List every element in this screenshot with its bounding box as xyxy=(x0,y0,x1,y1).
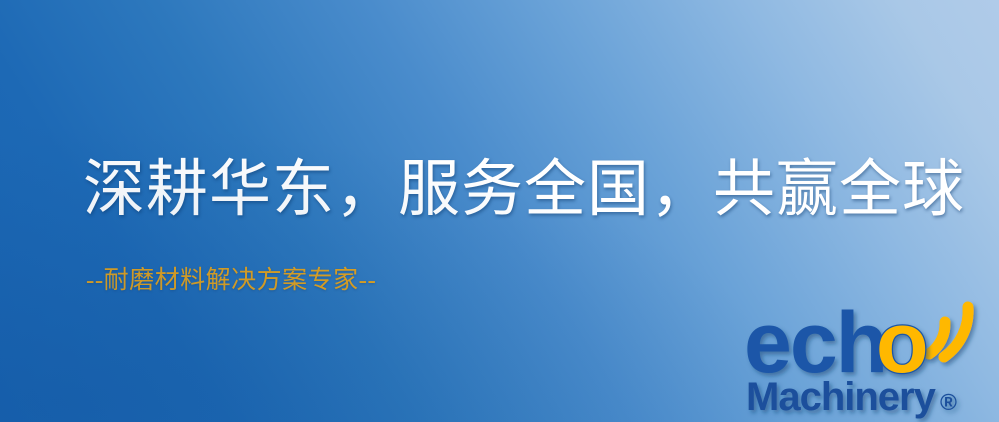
echo-machinery-logo[interactable]: ech o Machinery ® xyxy=(744,296,994,418)
signal-arcs-icon xyxy=(929,307,968,357)
banner-subtitle: --耐磨材料解决方案专家-- xyxy=(86,266,376,296)
logo-registered-mark: ® xyxy=(940,389,957,415)
logo-tagline: Machinery xyxy=(746,375,937,419)
hero-banner: 深耕华东，服务全国，共赢全球 --耐磨材料解决方案专家-- ech o Mach… xyxy=(0,0,999,422)
banner-headline: 深耕华东，服务全国，共赢全球 xyxy=(83,152,965,228)
